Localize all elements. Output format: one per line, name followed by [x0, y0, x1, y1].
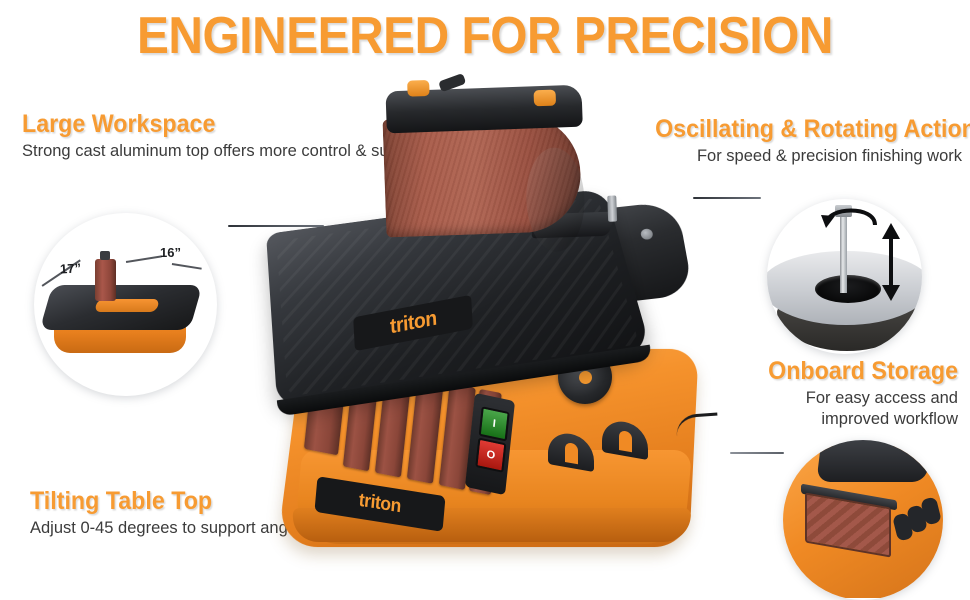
- table-bolt: [640, 228, 653, 240]
- dimension-leader-line-width-right: [172, 263, 202, 269]
- power-on-label: I: [492, 418, 496, 430]
- table-throat-hole: [815, 275, 881, 303]
- product-image-oscillating-sander: triton I O triton: [272, 78, 712, 578]
- page-title: ENGINEERED FOR PRECISION: [39, 6, 931, 66]
- connector-line-onboard-storage: [730, 452, 784, 454]
- dimension-label-width: 16”: [160, 245, 181, 260]
- vertical-double-arrow-icon: [879, 221, 903, 303]
- curved-rotation-arrow-icon: [819, 199, 883, 239]
- throat-plate-notch: [565, 442, 578, 464]
- callout-body-onboard-storage: For easy access and improved workflow: [742, 388, 958, 430]
- dimension-leader-line-width-left: [126, 255, 162, 262]
- worktable-dimensions-inset: 17” 16”: [34, 213, 217, 396]
- onboard-storage-inset: [783, 440, 943, 600]
- power-on-switch[interactable]: I: [479, 406, 510, 441]
- dimensions-illustration: 17” 16”: [34, 213, 217, 396]
- spindle-oscillation-inset: [767, 199, 922, 354]
- brand-wordmark: triton: [389, 307, 437, 340]
- brand-wordmark: triton: [358, 490, 402, 518]
- throat-plate-notch: [619, 430, 632, 452]
- callout-title-onboard-storage: Onboard Storage: [757, 357, 958, 386]
- power-off-label: O: [486, 448, 496, 462]
- housing-black-cap: [816, 440, 931, 482]
- sanding-spindle-shape: [95, 259, 116, 301]
- oscillation-illustration: [767, 199, 922, 354]
- belt-support-post: [607, 195, 617, 221]
- belt-sander-head: [381, 84, 590, 239]
- infographic-canvas: ENGINEERED FOR PRECISION Large Workspace…: [0, 0, 970, 600]
- belt-tracking-knob[interactable]: [407, 80, 430, 97]
- dimension-label-depth: 17”: [60, 260, 82, 276]
- storage-illustration: [783, 440, 943, 600]
- power-off-switch[interactable]: O: [475, 438, 506, 473]
- belt-tension-knob[interactable]: [534, 90, 557, 107]
- callout-onboard-storage: Onboard Storage For easy access and impr…: [742, 357, 958, 430]
